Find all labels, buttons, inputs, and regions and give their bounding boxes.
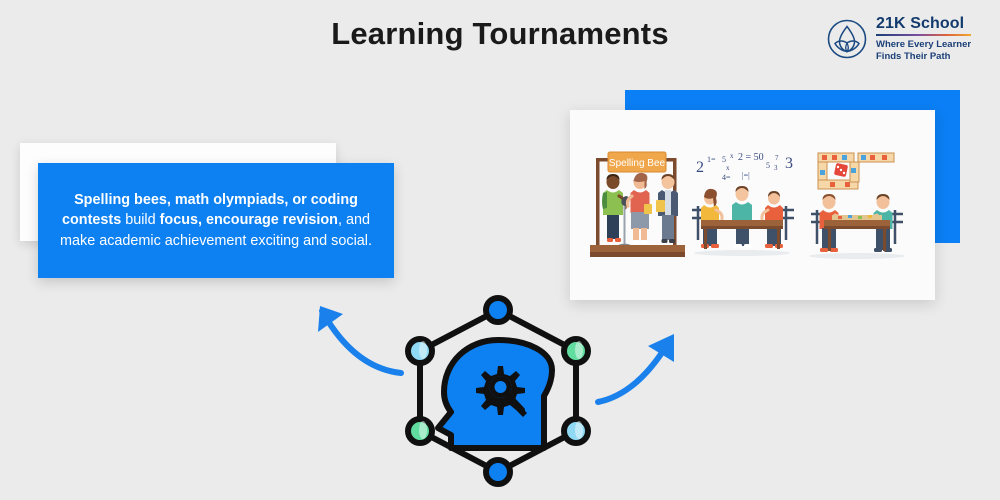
logo-gradient-rule: [876, 34, 971, 36]
logo-tagline-line-2: Finds Their Path: [876, 51, 950, 62]
node-bottom: [486, 460, 510, 484]
lotus-in-circle-icon: [826, 18, 868, 60]
node-top: [486, 298, 510, 322]
logo-text-block: 21K School Where Every Learner Finds The…: [876, 16, 971, 63]
arrow-to-illustration: [594, 318, 694, 410]
logo-name: 21K School: [876, 16, 971, 34]
svg-text:x: x: [730, 152, 734, 160]
svg-text:Spelling Bee: Spelling Bee: [609, 158, 666, 169]
text-card: Spelling bees, math olympiads, or coding…: [38, 163, 394, 278]
svg-text:7: 7: [775, 154, 779, 162]
text-card-segment-2: build: [125, 212, 159, 228]
hexagon-network-head-gear-icon[interactable]: [398, 288, 598, 493]
logo-tagline-line-1: Where Every Learner: [876, 39, 971, 50]
competition-illustration: Spelling Bee: [570, 110, 935, 300]
illustration-card: Spelling Bee: [570, 110, 935, 300]
text-card-body: Spelling bees, math olympiads, or coding…: [52, 190, 380, 251]
text-card-segment-3: focus, encourage revision: [160, 212, 338, 228]
svg-text:4=: 4=: [722, 173, 731, 182]
brand-logo[interactable]: 21K School Where Every Learner Finds The…: [826, 16, 971, 63]
svg-text:5: 5: [722, 155, 726, 164]
svg-text:2 = 50: 2 = 50: [738, 152, 764, 163]
slide-canvas: Learning Tournaments 21K School Where Ev…: [0, 0, 1000, 500]
svg-text:|=|: |=|: [742, 171, 750, 180]
svg-text:3: 3: [774, 164, 778, 172]
arrow-to-text-card: [296, 288, 406, 388]
svg-text:5: 5: [766, 161, 770, 170]
logo-tagline: Where Every Learner Finds Their Path: [876, 39, 971, 63]
svg-text:x: x: [726, 164, 730, 172]
svg-text:2: 2: [696, 159, 704, 176]
svg-text:3: 3: [785, 155, 793, 172]
svg-text:1=: 1=: [707, 155, 716, 164]
